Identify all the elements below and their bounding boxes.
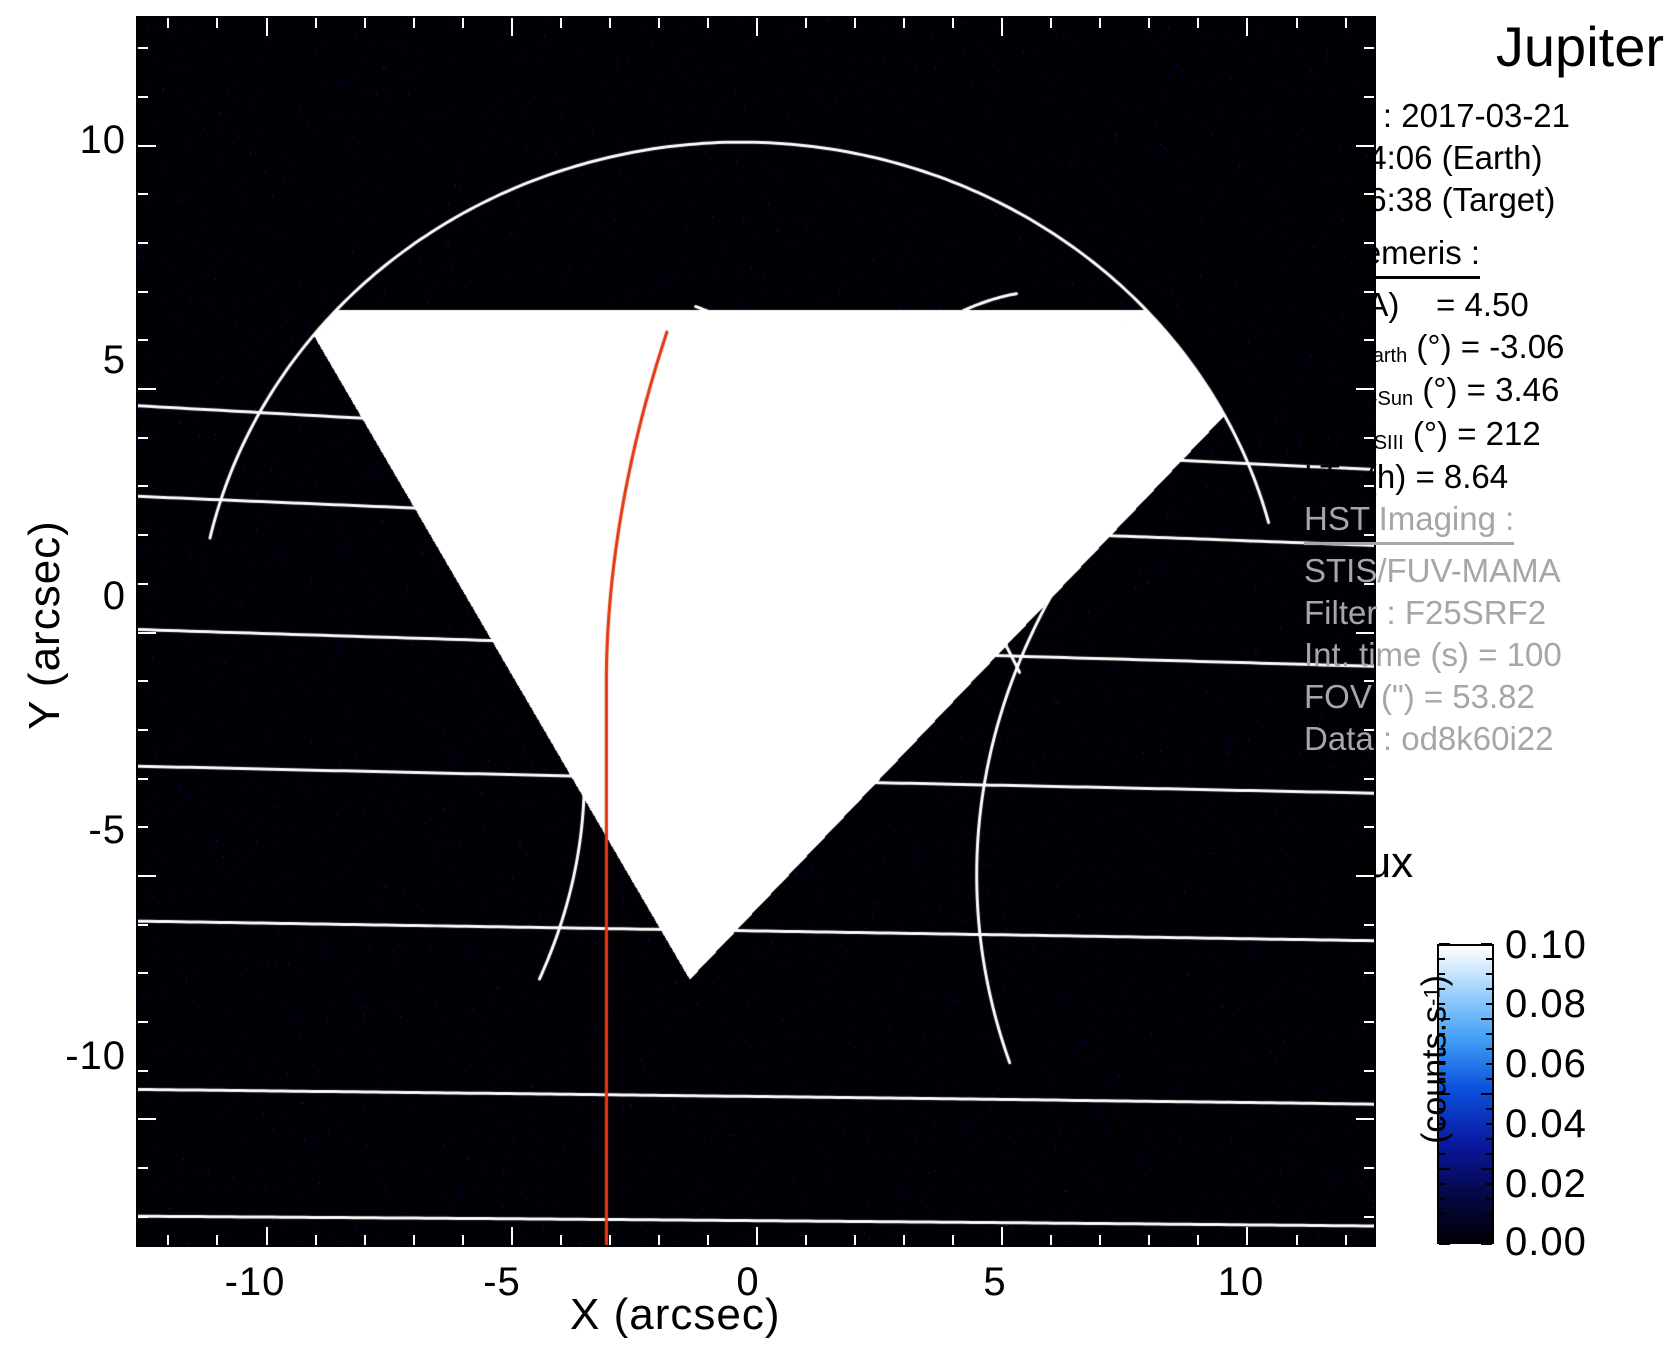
axis-tick [138,485,148,487]
axis-tick [138,339,148,341]
axis-tick [138,47,148,49]
colorbar-tick [1481,1018,1492,1020]
colorbar-tick [1439,958,1445,960]
eph-name: α [1304,371,1323,408]
axis-tick [266,18,268,36]
axis-tick [138,291,148,293]
axis-tick [1364,924,1374,926]
x-tick-label: 10 [1171,1262,1311,1302]
date-label: Date : 2017-03-21 [1304,95,1670,137]
colorbar-tick [1486,1138,1492,1140]
colorbar-tick [1486,988,1492,990]
eph-subscript: SIII [1374,432,1404,454]
axis-tick [1364,1167,1374,1169]
axis-tick [805,18,807,28]
axis-tick [1148,1235,1150,1245]
axis-tick [1356,145,1374,147]
axis-tick [707,1235,709,1245]
eph-unit: (h) [1366,458,1406,495]
colorbar-tick [1439,943,1450,945]
colorbar-tick [1439,1168,1450,1170]
axis-tick [1345,1235,1347,1245]
colorbar-tick [1486,1063,1492,1065]
axis-tick [1364,339,1374,341]
axis-tick [138,1021,148,1023]
eph-value: = 3.46 [1467,371,1560,408]
colorbar-tick [1486,958,1492,960]
eph-subscript: Io [1340,475,1357,497]
axis-tick [1001,18,1003,36]
colorbar-tick [1486,1183,1492,1185]
colorbar-tick [1486,1123,1492,1125]
colorbar-tick [1439,1153,1445,1155]
y-tick-label: 0 [103,576,126,616]
axis-tick [315,18,317,28]
axis-tick [138,875,156,877]
axis-tick [413,18,415,28]
eph-value: = 4.50 [1436,286,1529,323]
axis-tick [462,1235,464,1245]
axis-tick [854,1235,856,1245]
colorbar-tick [1439,973,1445,975]
axis-tick [805,1235,807,1245]
colorbar-tick [1486,1033,1492,1035]
y-tick-label: 10 [80,120,127,160]
fuv-image-canvas [138,18,1374,1245]
axis-tick [138,1118,156,1120]
colorbar-tick [1439,1063,1445,1065]
axis-tick [560,18,562,28]
axis-tick [266,1227,268,1245]
axis-tick [1364,96,1374,98]
axis-tick [952,18,954,28]
colorbar-tick [1439,1123,1445,1125]
colorbar-tick [1439,1243,1450,1245]
axis-tick [1246,1227,1248,1245]
axis-tick [138,680,148,682]
page-title: Jupiter [1304,14,1664,79]
colorbar-tick [1486,1078,1492,1080]
y-tick-label: -5 [88,810,126,850]
colorbar-tick [1439,1078,1445,1080]
colorbar-tick [1439,1213,1445,1215]
eph-value: = 212 [1457,415,1541,452]
eph-name: CML [1304,415,1374,452]
eph-unit: (°) [1416,328,1451,365]
colorbar-tick [1486,1048,1492,1050]
colorbar-title: Flux [1330,838,1413,888]
y-tick-label: -10 [65,1036,126,1076]
axis-tick [1345,18,1347,28]
eph-subscript: sub-Earth [1321,345,1408,367]
ephemeris-block: Ephemeris : d (UA) = 4.50 λsub-Earth (°)… [1304,232,1670,499]
ephemeris-row-cml: CMLSIII (°) = 212 [1304,413,1670,456]
axis-tick [1364,680,1374,682]
axis-tick [138,778,148,780]
axis-tick [216,1235,218,1245]
axis-tick [138,729,148,731]
jupiter-aurora-image [138,18,1374,1245]
colorbar-tick [1486,1198,1492,1200]
axis-tick [1364,291,1374,293]
colorbar-tick [1486,1213,1492,1215]
colorbar-unit-label: (counts.s-1) [1416,910,1455,1210]
eph-subscript: Earth-Sun [1323,388,1413,410]
axis-tick [413,1235,415,1245]
axis-tick [1364,485,1374,487]
axis-tick [1148,18,1150,28]
axis-tick [138,242,148,244]
axis-tick [1050,1235,1052,1245]
axis-tick [658,1235,660,1245]
colorbar-tick [1439,1228,1445,1230]
axis-tick [138,1167,148,1169]
colorbar-tick [1439,1003,1445,1005]
colorbar-tick [1439,1138,1445,1140]
axis-tick [1356,1118,1374,1120]
colorbar-tick [1439,1108,1445,1110]
axis-tick [138,972,148,974]
ephemeris-row-sub-earth-lat: λsub-Earth (°) = -3.06 [1304,326,1670,369]
ephemeris-heading: Ephemeris : [1304,232,1480,279]
colorbar-tick-label: 0.02 [1505,1164,1587,1204]
axis-tick [1099,18,1101,28]
axis-tick [854,18,856,28]
axis-tick [138,583,148,585]
axis-tick [138,924,148,926]
hst-instrument: STIS/FUV-MAMA [1304,550,1670,592]
colorbar-tick [1439,1198,1445,1200]
colorbar-tick [1481,943,1492,945]
axis-tick [462,18,464,28]
x-tick-label: 5 [925,1262,1065,1302]
axis-tick [609,1235,611,1245]
axis-tick [138,193,148,195]
hst-heading: HST Imaging : [1304,498,1514,545]
axis-tick [1356,875,1374,877]
colorbar-tick-label: 0.10 [1505,925,1587,965]
eph-name: λ [1304,328,1321,365]
axis-tick [138,632,156,634]
colorbar-tick [1486,1108,1492,1110]
axis-tick [138,826,148,828]
axis-tick [511,18,513,36]
eph-unit: (°) [1422,371,1457,408]
axis-tick [1296,18,1298,28]
axis-tick [138,96,148,98]
axis-tick [138,145,156,147]
colorbar-tick [1439,1093,1450,1095]
hst-integration-time: Int. time (s) = 100 [1304,634,1670,676]
axis-tick [1364,47,1374,49]
colorbar-tick-label: 0.06 [1505,1044,1587,1084]
colorbar-tick [1481,1168,1492,1170]
ephemeris-row-io-local-time: LTIo (h) = 8.64 [1304,456,1670,499]
axis-tick [315,1235,317,1245]
axis-tick [756,18,758,36]
x-axis-label: X (arcsec) [570,1290,780,1340]
colorbar-tick-label: 0.00 [1505,1222,1587,1262]
eph-name: d (UA) [1304,286,1399,323]
cb-unit-close: ) [1416,975,1454,986]
axis-tick [609,18,611,28]
axis-tick [1364,534,1374,536]
colorbar-tick [1439,988,1445,990]
colorbar-tick [1486,973,1492,975]
axis-tick [1364,826,1374,828]
axis-tick [658,18,660,28]
axis-tick [138,1070,148,1072]
colorbar-tick [1486,1153,1492,1155]
axis-tick [1197,18,1199,28]
axis-tick [1356,632,1374,634]
eph-unit: (°) [1413,415,1448,452]
hst-fov: FOV (") = 53.82 [1304,676,1670,718]
axis-tick [903,1235,905,1245]
axis-tick [1364,1216,1374,1218]
axis-tick [756,1227,758,1245]
axis-tick [364,18,366,28]
hst-imaging-block: HST Imaging : STIS/FUV-MAMA Filter : F25… [1304,498,1670,759]
colorbar-tick-label: 0.04 [1505,1104,1587,1144]
hst-dataset-id: Data : od8k60i22 [1304,718,1670,760]
axis-tick [560,1235,562,1245]
axis-tick [1364,972,1374,974]
axis-tick [1197,1235,1199,1245]
axis-tick [952,1235,954,1245]
colorbar-tick [1439,1183,1445,1185]
ephemeris-row-distance: d (UA) = 4.50 [1304,284,1670,326]
axis-tick [1364,583,1374,585]
colorbar-tick [1439,1033,1445,1035]
colorbar-tick-label: 0.08 [1505,984,1587,1024]
eph-value: = 8.64 [1415,458,1508,495]
axis-tick [1364,729,1374,731]
time-target: 12:46:38 (Target) [1304,179,1670,221]
colorbar-tick [1481,1093,1492,1095]
time-earth: 13:24:06 (Earth) [1304,137,1670,179]
x-tick-label: -5 [432,1262,572,1302]
x-tick-label: -10 [185,1262,325,1302]
axis-tick [138,1216,148,1218]
axis-tick [138,437,148,439]
axis-tick [1364,437,1374,439]
cb-unit-text: (counts.s [1416,1006,1454,1144]
axis-tick [1296,1235,1298,1245]
axis-tick [167,18,169,28]
axis-tick [511,1227,513,1245]
eph-value: = -3.06 [1461,328,1565,365]
colorbar-tick [1439,1048,1445,1050]
colorbar-tick [1439,1018,1450,1020]
axis-tick [216,18,218,28]
colorbar-tick [1481,1243,1492,1245]
axis-tick [364,1235,366,1245]
eph-name: LT [1304,458,1340,495]
axis-tick [1099,1235,1101,1245]
axis-tick [903,18,905,28]
axis-tick [1364,193,1374,195]
ephemeris-row-phase-angle: αEarth-Sun (°) = 3.46 [1304,369,1670,412]
axis-tick [1364,1070,1374,1072]
axis-tick [1050,18,1052,28]
axis-tick [1356,388,1374,390]
axis-tick [1364,242,1374,244]
axis-tick [138,388,156,390]
axis-tick [707,18,709,28]
axis-tick [167,1235,169,1245]
colorbar-tick [1486,1003,1492,1005]
y-axis-label: Y (arcsec) [20,485,70,765]
axis-tick [138,534,148,536]
colorbar-tick [1486,1228,1492,1230]
observation-date-block: Date : 2017-03-21 13:24:06 (Earth) 12:46… [1304,95,1670,221]
hst-filter: Filter : F25SRF2 [1304,592,1670,634]
y-tick-label: 5 [103,340,126,380]
axis-tick [1364,1021,1374,1023]
axis-tick [1246,18,1248,36]
axis-tick [1001,1227,1003,1245]
axis-tick [1364,778,1374,780]
